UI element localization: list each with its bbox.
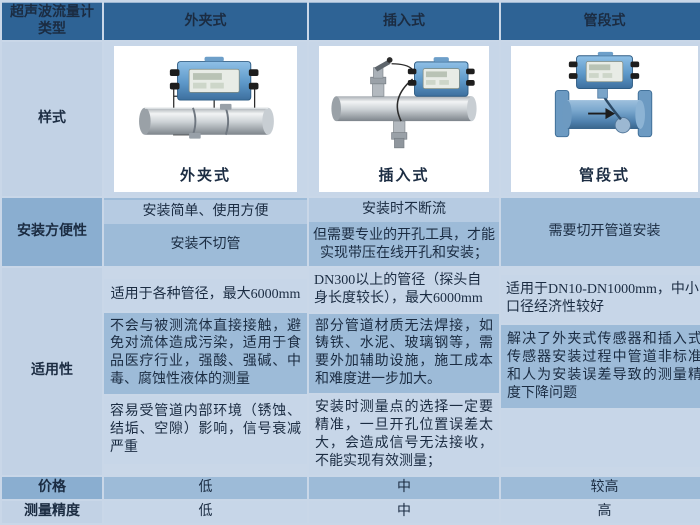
applicability-insertion-part-1: DN300以上的管径（探头自身长度较长），最大6000mm [309,268,499,312]
header-cell-inline: 管段式 [501,2,700,40]
row-label-style: 样式 [2,42,102,196]
row-label-accuracy: 测量精度 [2,501,102,523]
header-type-line1: 超声波流量计 [6,5,98,21]
table-header-row: 超声波流量计 类型 外夹式 插入式 管段式 [2,2,700,40]
applicability-inline-part-2: 解决了外夹式传感器和插入式传感器安装过程中管道非标准和人为安装误差导致的测量精度… [501,325,700,409]
insertion-flowmeter-icon [319,46,489,158]
install-cell-clamp-on: 安装简单、使用方便 安装不切管 [104,198,307,266]
header-cell-insertion: 插入式 [309,2,499,40]
style-image-insertion: 插入式 [319,46,489,192]
style-image-inline: 管段式 [511,46,698,192]
header-cell-clamp-on: 外夹式 [104,2,307,40]
table-row-applicability: 适用性 适用于各种管径，最大6000mm 不会与被测流体直接接触，避免对流体造成… [2,268,700,475]
style-cell-insertion: 插入式 [309,42,499,196]
ultrasonic-flowmeter-comparison-table: 超声波流量计 类型 外夹式 插入式 管段式 样式 [0,0,700,525]
inline-flowmeter-icon [511,46,698,158]
table-row-style: 样式 [2,42,700,196]
style-caption-inline: 管段式 [579,167,630,186]
install-stack-insertion: 安装时不断流 但需要专业的开孔工具，才能实现带压在线开孔和安装； [309,198,499,266]
applicability-clamp-on-part-2: 不会与被测流体直接接触，避免对流体造成污染，适用于食品医疗行业，强酸、强碱、中毒… [104,313,307,395]
applicability-cell-insertion: DN300以上的管径（探头自身长度较长），最大6000mm 部分管道材质无法焊接… [309,268,499,475]
install-insertion-part-1: 安装时不断流 [309,198,499,222]
applicability-insertion-part-3: 安装时测量点的选择一定要精准，一旦开孔位置误差太大，会造成信号无法接收，不能实现… [309,395,499,475]
applicability-clamp-on-part-3: 容易受管道内部环境（锈蚀、结垢、空隙）影响，信号衰减严重 [104,396,307,464]
applicability-cell-inline: 适用于DN10-DN1000mm，中小口径经济性较好 解决了外夹式传感器和插入式… [501,268,700,475]
row-label-applicability: 适用性 [2,268,102,475]
style-caption-insertion: 插入式 [378,167,429,186]
header-type-line2: 类型 [6,22,98,38]
header-cell-type: 超声波流量计 类型 [2,2,102,40]
applicability-inline-part-1: 适用于DN10-DN1000mm，中小口径经济性较好 [501,275,700,323]
accuracy-value-clamp-on: 低 [104,501,307,523]
table-row-install-convenience: 安装方便性 安装简单、使用方便 安装不切管 安装时不断流 但需要专业的开孔工具，… [2,198,700,266]
install-stack-clamp-on: 安装简单、使用方便 安装不切管 [104,200,307,264]
install-cell-insertion: 安装时不断流 但需要专业的开孔工具，才能实现带压在线开孔和安装； [309,198,499,266]
applicability-clamp-on-part-1: 适用于各种管径，最大6000mm [104,279,307,311]
style-caption-clamp-on: 外夹式 [180,167,231,186]
applicability-insertion-part-2: 部分管道材质无法焊接，如铸铁、水泥、玻璃钢等，需要外加辅助设施，施工成本和难度进… [309,314,499,394]
install-cell-inline: 需要切开管道安装 [501,198,700,266]
row-label-price: 价格 [2,477,102,499]
style-cell-clamp-on: 外夹式 [104,42,307,196]
applicability-cell-clamp-on: 适用于各种管径，最大6000mm 不会与被测流体直接接触，避免对流体造成污染，适… [104,268,307,475]
install-insertion-part-2: 但需要专业的开孔工具，才能实现带压在线开孔和安装； [309,224,499,266]
applicability-inline-spacer [501,410,700,467]
install-clamp-on-part-2: 安装不切管 [104,226,307,264]
row-label-install-convenience: 安装方便性 [2,198,102,266]
style-image-clamp-on: 外夹式 [114,46,297,192]
table-row-accuracy: 测量精度 低 中 高 [2,501,700,523]
comparison-sheet: 超声波流量计 类型 外夹式 插入式 管段式 样式 [0,0,700,489]
accuracy-value-inline: 高 [501,501,700,523]
price-value-insertion: 中 [309,477,499,499]
clamp-on-flowmeter-icon [114,46,297,158]
price-value-inline: 较高 [501,477,700,499]
accuracy-value-insertion: 中 [309,501,499,523]
install-clamp-on-part-1: 安装简单、使用方便 [104,200,307,224]
table-row-price: 价格 低 中 较高 [2,477,700,499]
style-cell-inline: 管段式 [501,42,700,196]
price-value-clamp-on: 低 [104,477,307,499]
